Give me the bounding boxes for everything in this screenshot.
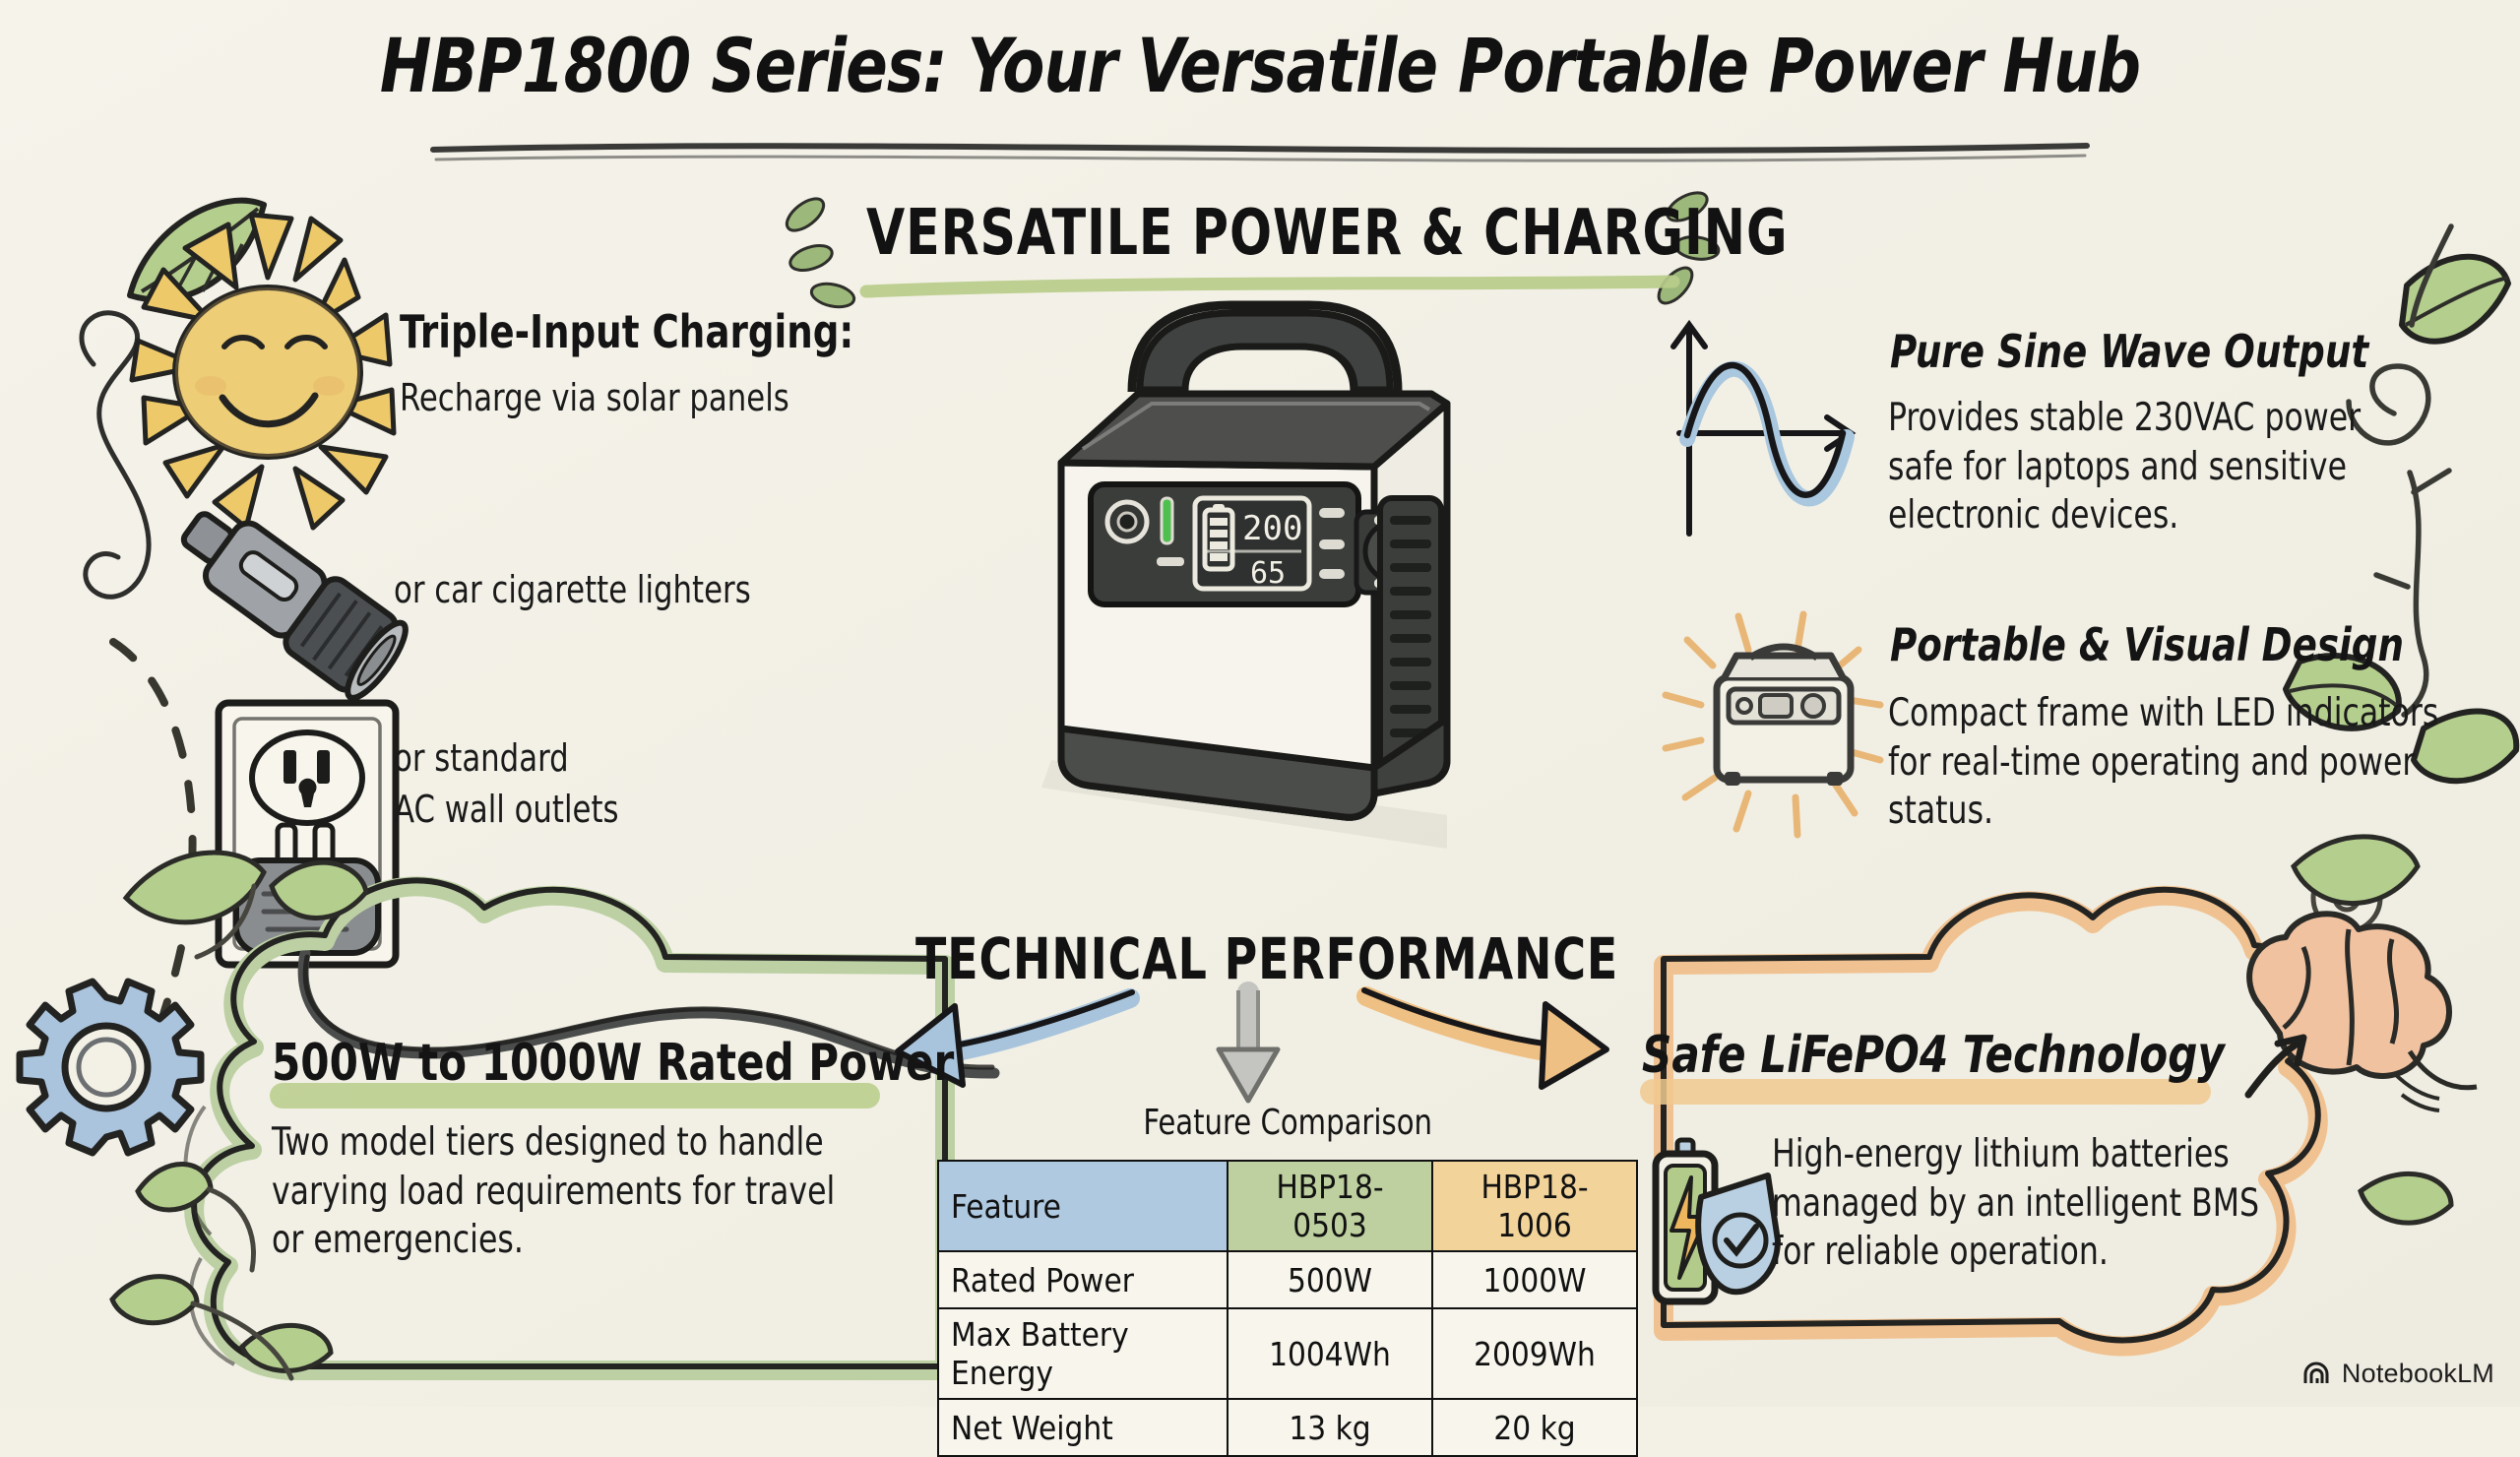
table-row: Max Battery Energy 1004Wh 2009Wh [938, 1308, 1637, 1399]
infographic-canvas: 200 65 [0, 0, 2520, 1407]
feature-pure-sine-wave-title: Pure Sine Wave Output [1890, 325, 2368, 378]
table-cell-model-a: 1004Wh [1228, 1308, 1432, 1399]
table-header-row: Feature HBP18-0503 HBP18-1006 [938, 1161, 1637, 1251]
table-cell-model-b: 20 kg [1432, 1399, 1637, 1456]
feature-body-line: Compact frame with LED indicators [1888, 689, 2438, 738]
charging-option-wall-line1: or standard [394, 736, 569, 780]
table-cell-model-b: 1000W [1432, 1251, 1637, 1308]
feature-body-line: Provides stable 230VAC power [1888, 394, 2361, 443]
section-heading-versatile: VERSATILE POWER & CHARGING [866, 197, 1788, 270]
notebooklm-logo-icon [2302, 1362, 2332, 1387]
feature-portable-visual-body: Compact frame with LED indicators for re… [1888, 689, 2438, 836]
lcd-power-value: 200 [1242, 509, 1302, 548]
page-title: HBP1800 Series: Your Versatile Portable … [100, 22, 2419, 109]
feature-comparison-table: Feature HBP18-0503 HBP18-1006 Rated Powe… [937, 1160, 1638, 1457]
table-header-model-b: HBP18-1006 [1432, 1161, 1637, 1251]
charging-option-wall-line2: AC wall outlets [394, 788, 619, 831]
feature-body-line: for real-time operating and power [1888, 738, 2438, 788]
charging-lead: Triple-Input Charging: [400, 305, 853, 358]
feature-body-line: electronic devices. [1888, 491, 2361, 540]
table-cell-model-a: 13 kg [1228, 1399, 1432, 1456]
bottom-left-body-line: Two model tiers designed to handle [272, 1118, 835, 1168]
feature-body-line: safe for laptops and sensitive [1888, 443, 2361, 492]
notebooklm-watermark: NotebookLM [2302, 1359, 2494, 1389]
feature-portable-visual-title: Portable & Visual Design [1890, 618, 2404, 671]
bottom-right-title: Safe LiFePO4 Technology [1642, 1026, 2225, 1085]
bottom-right-body-line: for reliable operation. [1772, 1228, 2259, 1277]
bottom-right-body-line: managed by an intelligent BMS [1772, 1179, 2259, 1229]
feature-body-line: status. [1888, 787, 2438, 836]
lcd-secondary-value: 65 [1250, 556, 1286, 591]
bottom-right-body: High-energy lithium batteries managed by… [1772, 1130, 2259, 1277]
table-header-feature: Feature [938, 1161, 1228, 1251]
table-header-model-a: HBP18-0503 [1228, 1161, 1432, 1251]
bottom-right-body-line: High-energy lithium batteries [1772, 1130, 2259, 1179]
gear-icon [20, 982, 201, 1153]
table-cell-feature: Rated Power [938, 1251, 1228, 1308]
table-cell-model-a: 500W [1228, 1251, 1432, 1308]
feature-pure-sine-wave-body: Provides stable 230VAC power safe for la… [1888, 394, 2361, 540]
feature-comparison-title: Feature Comparison [1143, 1103, 1432, 1143]
bottom-left-body-line: or emergencies. [272, 1216, 835, 1265]
charging-sub: Recharge via solar panels [400, 376, 789, 419]
bottom-left-body-line: varying load requirements for travel [272, 1168, 835, 1217]
section-heading-technical: TECHNICAL PERFORMANCE [915, 925, 1618, 992]
table-cell-feature: Max Battery Energy [938, 1308, 1228, 1399]
table-cell-feature: Net Weight [938, 1399, 1228, 1456]
table-row: Net Weight 13 kg 20 kg [938, 1399, 1637, 1456]
ac-wall-outlet-icon [219, 703, 396, 965]
table-row: Rated Power 500W 1000W [938, 1251, 1637, 1308]
notebooklm-label: NotebookLM [2342, 1359, 2494, 1389]
charging-option-car: or car cigarette lighters [394, 568, 751, 611]
table-cell-model-b: 2009Wh [1432, 1308, 1637, 1399]
bottom-left-title: 500W to 1000W Rated Power [272, 1034, 954, 1093]
bottom-left-body: Two model tiers designed to handle varyi… [272, 1118, 835, 1265]
